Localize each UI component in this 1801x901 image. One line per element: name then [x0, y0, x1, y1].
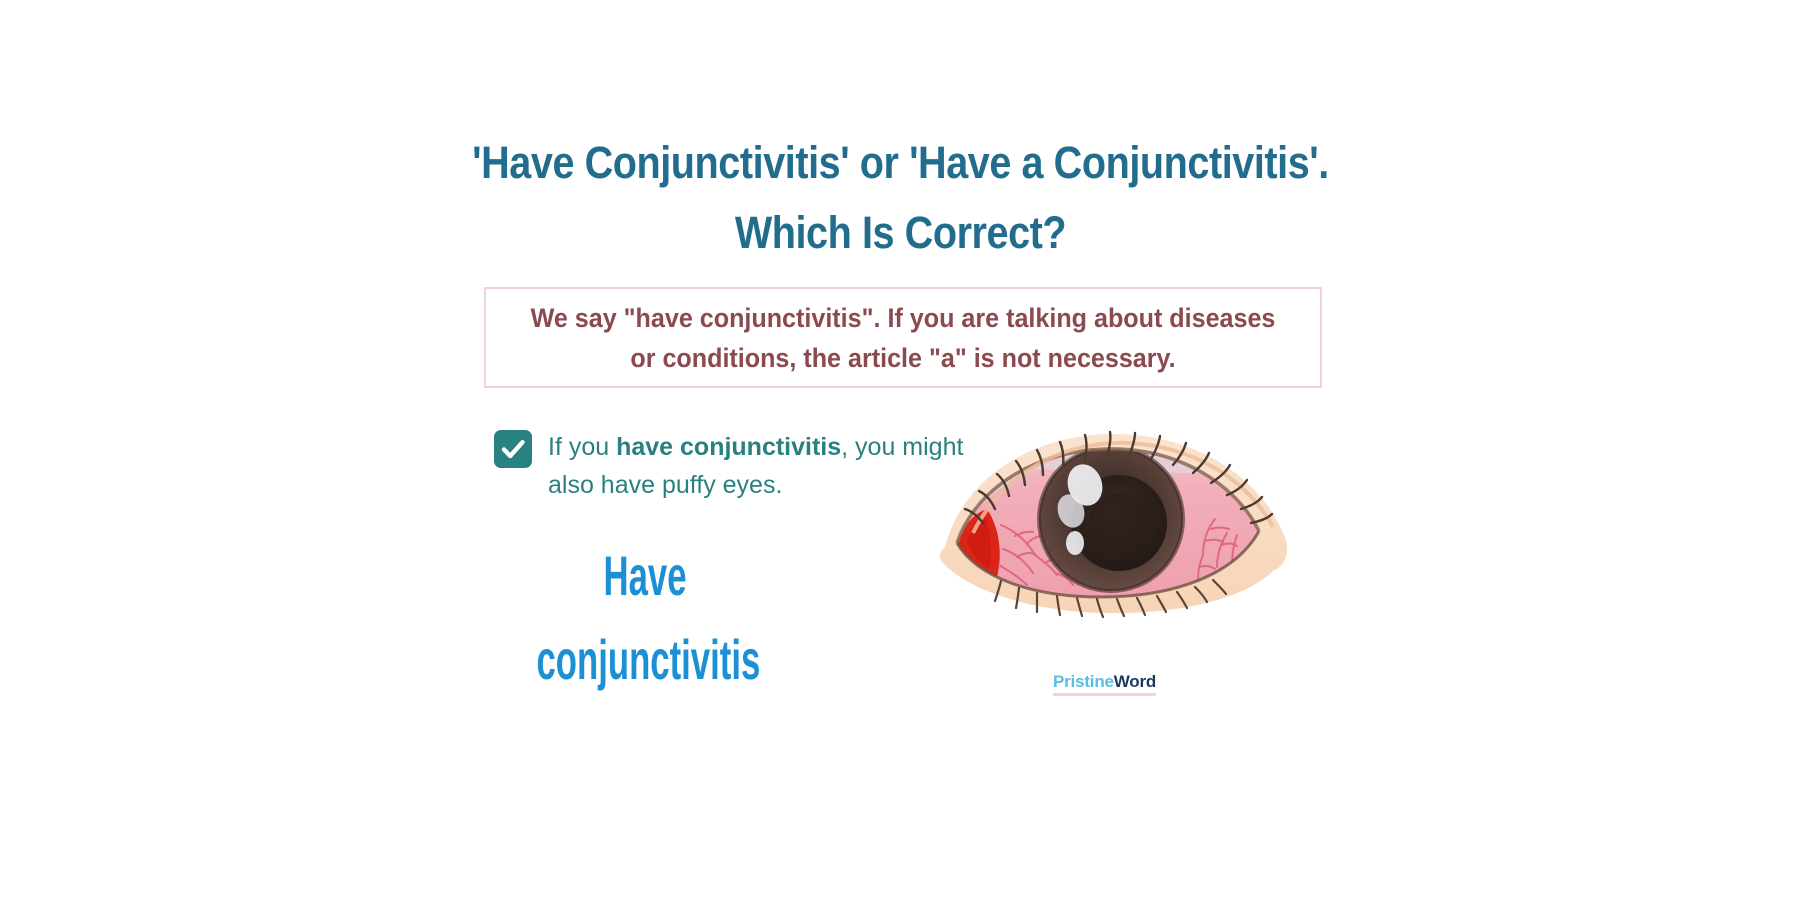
- logo-text-pristine: Pristine: [1053, 672, 1114, 691]
- page-canvas: 'Have Conjunctivitis' or 'Have a Conjunc…: [0, 0, 1801, 901]
- check-mark-icon: [494, 430, 532, 468]
- answer-callout-box: We say "have conjunctivitis". If you are…: [484, 287, 1322, 388]
- answer-callout-text: We say "have conjunctivitis". If you are…: [515, 298, 1291, 378]
- example-text-bold: have conjunctivitis: [616, 433, 841, 461]
- pristineword-logo: PristineWord: [1053, 672, 1156, 696]
- correct-example-text: If you have conjunctivitis, you might al…: [548, 428, 964, 504]
- highlight-phrase: Have conjunctivitis: [537, 534, 754, 702]
- correct-example-row: If you have conjunctivitis, you might al…: [494, 428, 964, 504]
- example-text-prefix: If you: [548, 433, 616, 461]
- logo-text-word: Word: [1114, 672, 1156, 691]
- inflamed-eye-illustration: [915, 415, 1305, 630]
- page-title: 'Have Conjunctivitis' or 'Have a Conjunc…: [108, 128, 1693, 268]
